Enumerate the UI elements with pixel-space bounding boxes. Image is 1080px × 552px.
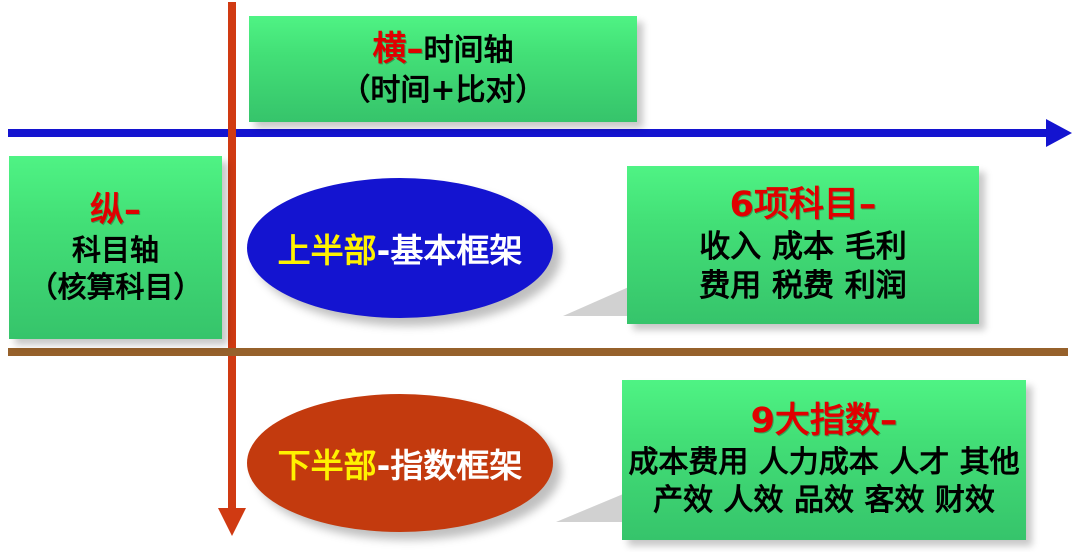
nine-indices-line3: 产效 人效 品效 客效 财效 — [653, 482, 995, 520]
six-subjects-heading-dash: – — [859, 185, 877, 225]
time-axis-heading-rest: 时间轴 — [424, 33, 514, 68]
six-subjects-heading: 6项科目 — [730, 185, 859, 225]
time-axis-subtext: （时间+比对） — [340, 72, 545, 110]
upper-framework-label: 上半部-基本框架 — [278, 224, 523, 272]
diagram-canvas: 横–时间轴 （时间+比对） 纵– 科目轴 （核算科目） 上半部-基本框架 下半部… — [0, 0, 1080, 552]
horizontal-axis-line — [8, 129, 1060, 137]
time-axis-box: 横–时间轴 （时间+比对） — [249, 16, 637, 122]
vertical-axis-line — [228, 2, 236, 518]
brown-divider-rule — [8, 348, 1068, 356]
subject-axis-line2: 科目轴 — [72, 232, 159, 269]
six-subjects-line3: 费用 税费 利润 — [699, 267, 907, 307]
time-axis-heading-line: 横–时间轴 — [373, 28, 514, 72]
nine-indices-line2: 成本费用 人力成本 人才 其他 — [628, 444, 1019, 482]
nine-indices-box: 9大指数– 成本费用 人力成本 人才 其他 产效 人效 品效 客效 财效 — [622, 380, 1026, 540]
lower-pointer-shadow-icon — [556, 492, 628, 522]
nine-indices-heading-dash: – — [880, 401, 898, 441]
six-subjects-heading-line: 6项科目– — [730, 183, 877, 228]
subject-axis-line3: （核算科目） — [28, 269, 202, 306]
lower-framework-highlight: 下半部 — [278, 446, 377, 485]
lower-framework-rest: -指数框架 — [377, 446, 523, 485]
six-subjects-line2: 收入 成本 毛利 — [699, 228, 907, 268]
upper-framework-highlight: 上半部 — [278, 231, 377, 270]
horizontal-axis-arrow-icon — [1046, 119, 1072, 147]
lower-framework-ellipse: 下半部-指数框架 — [247, 394, 553, 532]
six-subjects-box: 6项科目– 收入 成本 毛利 费用 税费 利润 — [627, 166, 979, 324]
subject-axis-box: 纵– 科目轴 （核算科目） — [9, 156, 222, 339]
lower-framework-label: 下半部-指数框架 — [278, 439, 523, 487]
time-axis-heading-dash: – — [407, 29, 424, 69]
time-axis-heading: 横 — [373, 29, 407, 69]
nine-indices-heading: 9大指数 — [751, 401, 880, 441]
upper-framework-ellipse: 上半部-基本框架 — [247, 178, 553, 318]
nine-indices-heading-line: 9大指数– — [751, 399, 898, 444]
upper-framework-rest: -基本框架 — [377, 231, 523, 270]
subject-axis-heading-dash: – — [124, 190, 141, 230]
vertical-axis-arrow-icon — [218, 508, 246, 536]
subject-axis-heading: 纵 — [90, 190, 124, 230]
upper-pointer-shadow-icon — [563, 286, 631, 316]
subject-axis-heading-line: 纵– — [90, 189, 141, 233]
